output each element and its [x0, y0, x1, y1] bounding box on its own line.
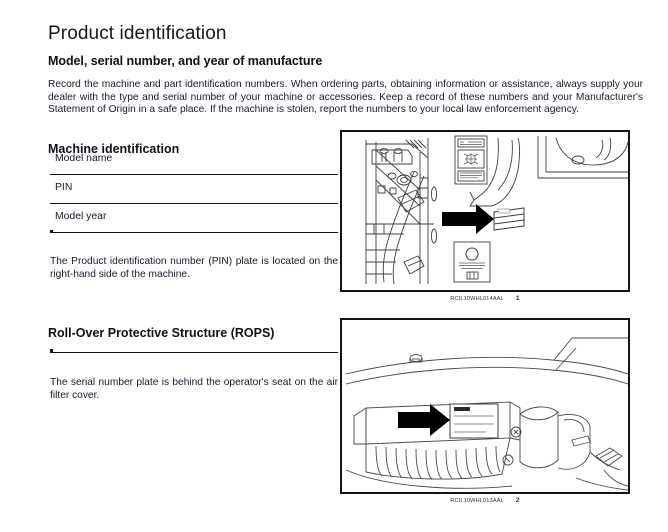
fluid-spec-decal	[454, 242, 490, 282]
rops-plate-illustration	[342, 320, 628, 492]
page-title: Product identification	[48, 23, 227, 45]
field-pin[interactable]: PIN	[50, 181, 338, 204]
rops-divider-rule	[50, 352, 338, 353]
field-model-year-label: Model year	[50, 210, 338, 223]
pin-location-note: The Product identification number (PIN) …	[50, 256, 338, 281]
field-model-year[interactable]: Model year	[50, 210, 338, 233]
figure-rops-plate-caption-code: RCIL10WHL013AAL	[450, 498, 504, 504]
plate-brand-mark	[454, 407, 470, 411]
rops-note: The serial number plate is behind the op…	[50, 377, 338, 402]
intro-paragraph: Record the machine and part identificati…	[48, 79, 643, 117]
rops-heading: Roll-Over Protective Structure (ROPS)	[48, 326, 274, 340]
rule-tick-mark	[50, 230, 53, 233]
figure-rops-plate-caption: RCIL10WHL013AAL2	[340, 497, 630, 504]
field-model-name-label: Model name	[50, 152, 338, 165]
field-model-name[interactable]: Model name	[50, 152, 338, 175]
figure-pin-plate-caption-code: RCIL10WHL014AAL	[450, 296, 504, 302]
document-page: Product identification Model, serial num…	[0, 0, 668, 532]
figure-rops-plate-caption-number: 2	[516, 497, 520, 504]
figure-pin-plate-caption: RCIL10WHL014AAL1	[340, 295, 630, 302]
pin-plate	[494, 208, 524, 230]
field-model-name-rule[interactable]	[50, 165, 338, 175]
section-heading: Model, serial number, and year of manufa…	[48, 54, 322, 68]
pin-plate-illustration	[342, 132, 628, 290]
figure-pin-plate: RCIL10WHL014AAL1	[340, 130, 630, 292]
figure-rops-plate: RCIL10WHL013AAL2	[340, 318, 630, 494]
pointer-arrow	[398, 404, 450, 436]
field-pin-label: PIN	[50, 181, 338, 194]
pointer-arrow	[442, 204, 494, 234]
field-pin-rule[interactable]	[50, 194, 338, 204]
figure-pin-plate-caption-number: 1	[516, 295, 520, 302]
figure-pin-plate-frame	[340, 130, 630, 292]
field-model-year-rule[interactable]	[50, 223, 338, 233]
figure-rops-plate-frame	[340, 318, 630, 494]
